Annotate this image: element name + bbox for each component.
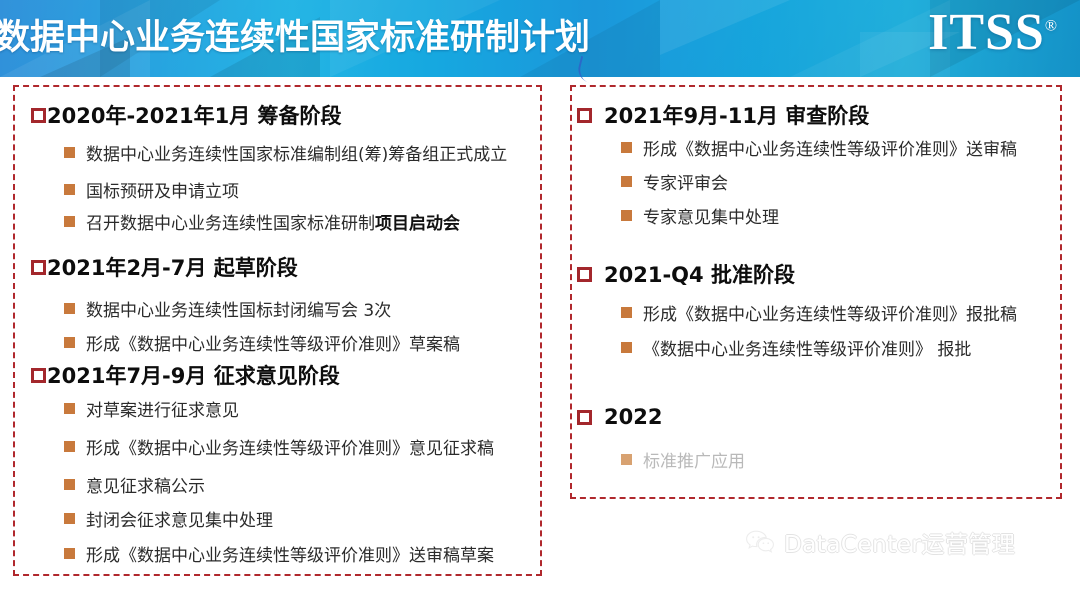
list-item: 形成《数据中心业务连续性等级评价准则》报批稿 (621, 300, 1017, 325)
phase-heading-drafting: 2021年2月-7月 起草阶段 (31, 252, 298, 282)
square-marker-icon (577, 108, 592, 123)
list-item: 意见征求稿公示 (64, 472, 205, 497)
phase-heading-review: 2021年9月-11月 审查阶段 (577, 100, 869, 130)
list-item-label: 意见征求稿公示 (86, 472, 205, 497)
bullet-square-icon (621, 210, 632, 221)
bullet-square-icon (64, 337, 75, 348)
list-item-label: 形成《数据中心业务连续性等级评价准则》报批稿 (643, 300, 1017, 325)
registered-trademark-icon: ® (1045, 18, 1058, 35)
square-marker-icon (31, 108, 46, 123)
banner-facet (790, 0, 950, 77)
list-item: 数据中心业务连续性国标封闭编写会 3次 (64, 296, 391, 321)
watermark-label: DataCenter运营管理 (784, 525, 1015, 559)
list-item: 标准推广应用 (621, 447, 745, 472)
phase-heading-2022: 2022 (577, 405, 662, 429)
list-item-label: 专家评审会 (643, 169, 728, 194)
list-item: 对草案进行征求意见 (64, 396, 239, 421)
phase-title: 2022 (604, 405, 662, 429)
wechat-icon (745, 529, 775, 555)
list-item-label: 国标预研及申请立项 (86, 177, 239, 202)
phase-title: 2021年2月-7月 起草阶段 (47, 252, 298, 282)
square-marker-icon (31, 260, 46, 275)
list-item-label: 对草案进行征求意见 (86, 396, 239, 421)
list-item: 形成《数据中心业务连续性等级评价准则》意见征求稿 (64, 434, 494, 459)
list-item-label-main: 召开数据中心业务连续性国家标准研制 (86, 214, 375, 234)
phase-heading-comment: 2021年7月-9月 征求意见阶段 (31, 360, 340, 390)
list-item: 专家评审会 (621, 169, 728, 194)
bullet-square-icon (64, 184, 75, 195)
bullet-square-icon (621, 142, 632, 153)
list-item: 形成《数据中心业务连续性等级评价准则》送审稿 (621, 135, 1017, 160)
bullet-square-icon (64, 403, 75, 414)
list-item: 国标预研及申请立项 (64, 177, 239, 202)
list-item-label: 形成《数据中心业务连续性等级评价准则》草案稿 (86, 330, 460, 355)
bullet-square-icon (64, 303, 75, 314)
phase-title: 2021年9月-11月 审查阶段 (604, 100, 869, 130)
bullet-square-icon (64, 548, 75, 559)
list-item-label: 数据中心业务连续性国标封闭编写会 3次 (86, 296, 391, 321)
bullet-square-icon (621, 454, 632, 465)
list-item-label: 数据中心业务连续性国家标准编制组(筹)筹备组正式成立 (86, 140, 507, 165)
page-title: 数据中心业务连续性国家标准研制计划 (0, 9, 590, 60)
list-item-label: 《数据中心业务连续性等级评价准则》 报批 (643, 335, 971, 360)
decorative-blue-stroke (575, 56, 600, 84)
list-item-label: 标准推广应用 (643, 447, 745, 472)
list-item-label: 专家意见集中处理 (643, 203, 779, 228)
bullet-square-icon (64, 479, 75, 490)
list-item: 《数据中心业务连续性等级评价准则》 报批 (621, 335, 971, 360)
square-marker-icon (577, 410, 592, 425)
list-item-label: 形成《数据中心业务连续性等级评价准则》意见征求稿 (86, 434, 494, 459)
list-item-label: 召开数据中心业务连续性国家标准研制项目启动会 (86, 209, 460, 234)
banner-facet (660, 0, 790, 55)
list-item: 专家意见集中处理 (621, 203, 779, 228)
list-item: 封闭会征求意见集中处理 (64, 506, 273, 531)
list-item: 数据中心业务连续性国家标准编制组(筹)筹备组正式成立 (64, 140, 507, 165)
bullet-square-icon (621, 176, 632, 187)
list-item: 形成《数据中心业务连续性等级评价准则》草案稿 (64, 330, 460, 355)
phase-heading-approval: 2021-Q4 批准阶段 (577, 259, 795, 289)
bullet-square-icon (64, 147, 75, 158)
list-item: 召开数据中心业务连续性国家标准研制项目启动会 (64, 209, 460, 234)
bullet-square-icon (621, 342, 632, 353)
phase-title: 2020年-2021年1月 筹备阶段 (47, 100, 342, 130)
header-banner: 数据中心业务连续性国家标准研制计划 ITSS® (0, 0, 1080, 77)
itss-logo: ITSS® (928, 7, 1058, 59)
list-item: 形成《数据中心业务连续性等级评价准则》送审稿草案 (64, 541, 494, 566)
phase-heading-preparation: 2020年-2021年1月 筹备阶段 (31, 100, 342, 130)
itss-logo-text: ITSS (928, 4, 1045, 61)
list-item-label: 形成《数据中心业务连续性等级评价准则》送审稿草案 (86, 541, 494, 566)
bullet-square-icon (64, 441, 75, 452)
list-item-label: 形成《数据中心业务连续性等级评价准则》送审稿 (643, 135, 1017, 160)
bullet-square-icon (64, 216, 75, 227)
phase-title: 2021年7月-9月 征求意见阶段 (47, 360, 340, 390)
list-item-label: 封闭会征求意见集中处理 (86, 506, 273, 531)
bullet-square-icon (64, 513, 75, 524)
square-marker-icon (31, 368, 46, 383)
bullet-square-icon (621, 307, 632, 318)
phase-title: 2021-Q4 批准阶段 (604, 259, 795, 289)
square-marker-icon (577, 267, 592, 282)
list-item-label-emphasis: 项目启动会 (375, 214, 460, 234)
watermark: DataCenter运营管理 (745, 525, 1015, 559)
